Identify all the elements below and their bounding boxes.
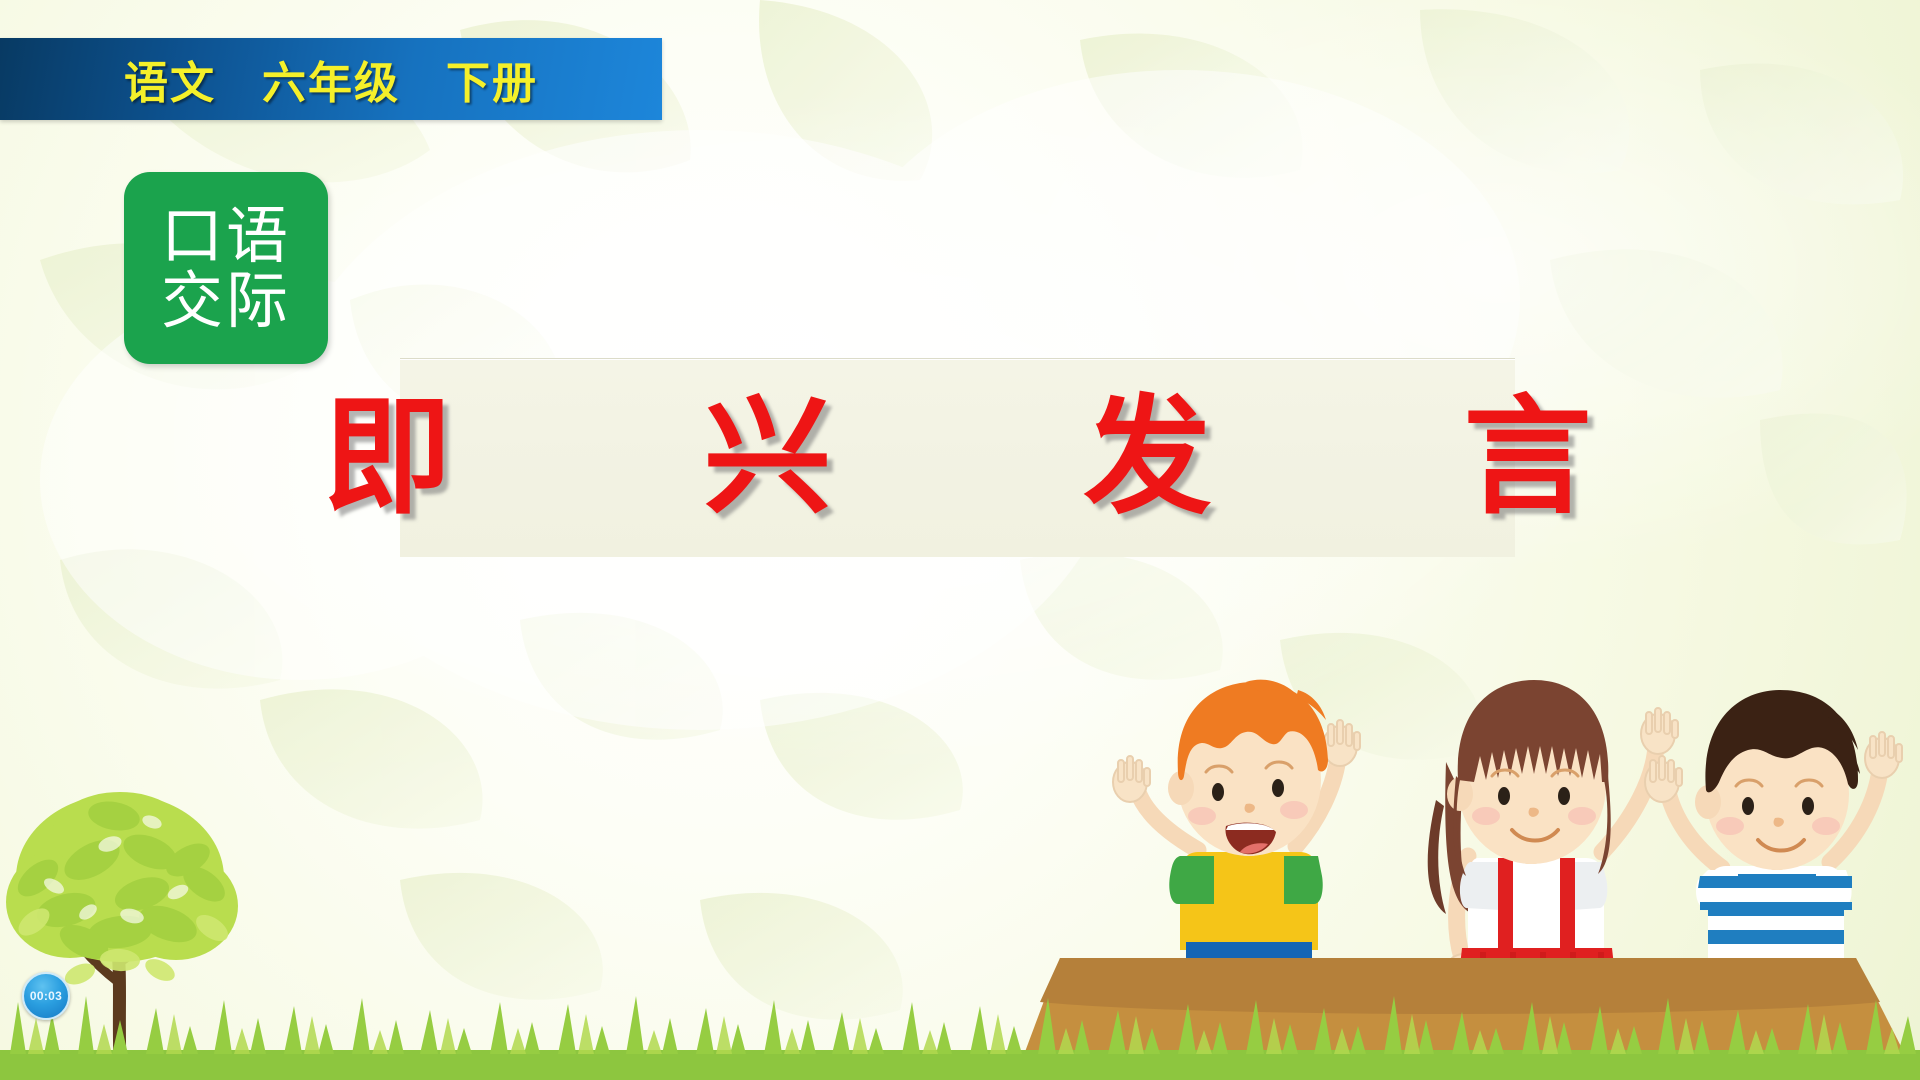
timer-badge[interactable]: 00:03 — [22, 972, 70, 1020]
section-badge: 口语 交际 — [124, 172, 328, 364]
page-title: 即 兴 发 言 — [262, 394, 1654, 522]
section-badge-line2: 交际 — [161, 268, 291, 333]
title-panel: 即 兴 发 言 — [400, 358, 1515, 557]
kid-boy-orange — [1113, 680, 1360, 990]
subject-banner-text: 语文 六年级 下册 — [124, 47, 538, 111]
section-badge-line1: 口语 — [161, 203, 291, 268]
timer-value: 00:03 — [30, 989, 62, 1003]
slide-root: 语文 六年级 下册 口语 交际 即 兴 发 言 — [0, 0, 1920, 1080]
grass-strip — [0, 994, 1920, 1080]
subject-banner: 语文 六年级 下册 — [0, 38, 662, 120]
